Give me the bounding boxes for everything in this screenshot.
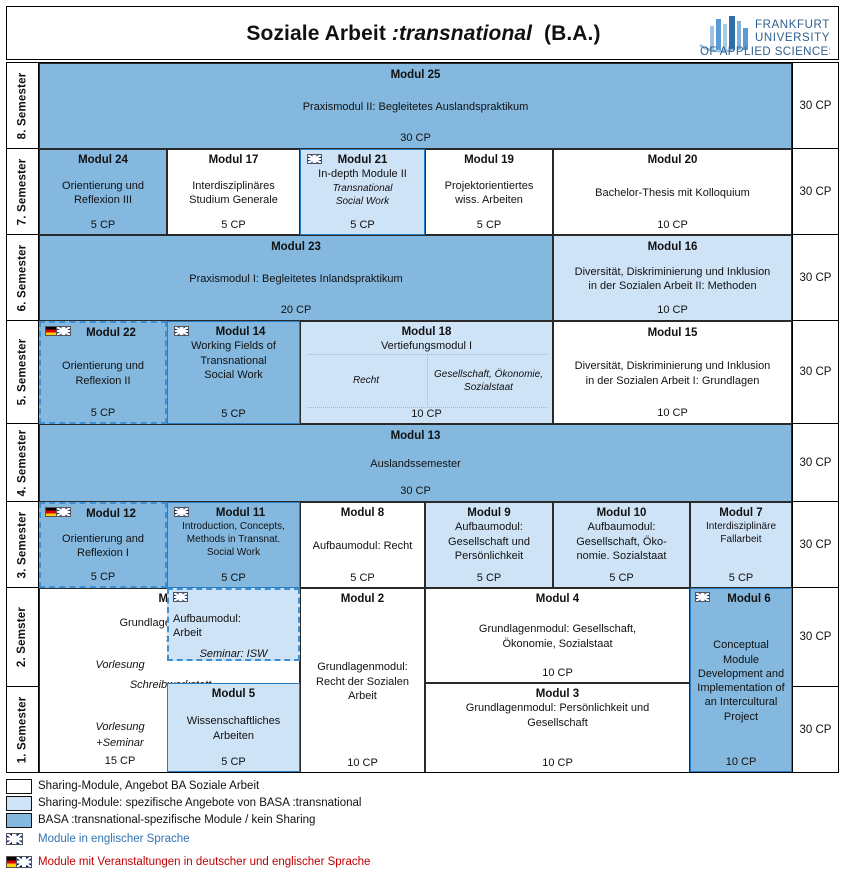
module-cell-modul-1-english-part[interactable]: Aufbaumodul: Arbeit Seminar: ISW bbox=[167, 588, 300, 661]
logo-line1: FRANKFURT bbox=[755, 19, 830, 31]
legend-label: Sharing-Module, Angebot BA Soziale Arbei… bbox=[38, 780, 259, 793]
module-cp: 20 CP bbox=[46, 304, 546, 316]
cp-total-2: 30 CP bbox=[792, 588, 838, 687]
module-description-line-2: Ökonomie, Sozialstaat bbox=[430, 637, 685, 651]
uk-flag-icon bbox=[6, 833, 23, 845]
module-cell-modul-14[interactable]: Modul 14 Working Fields of Transnational… bbox=[167, 321, 300, 424]
module-title: Modul 16 bbox=[559, 240, 786, 254]
curriculum-grid: 8. Semester 7. Semester 6. Semester 5. S… bbox=[6, 62, 839, 773]
module-description-line-1: Orientierung and bbox=[45, 532, 161, 546]
semester-label-8: 8. Semester bbox=[7, 63, 39, 149]
semester-label-5: 5. Semester bbox=[7, 321, 39, 424]
module-description-line-2: Development and bbox=[695, 667, 787, 681]
cp-total-6: 30 CP bbox=[792, 235, 838, 321]
module-title: Modul 13 bbox=[46, 429, 785, 443]
module-cp: 10 CP bbox=[559, 407, 786, 419]
module-cp: 5 CP bbox=[172, 756, 295, 768]
module-description-line-2: Transnational bbox=[172, 354, 295, 368]
module-cell-modul-12[interactable]: Modul 12 Orientierung and Reflexion I 5 … bbox=[39, 502, 167, 588]
module-description-line-1: Aufbaumodul: bbox=[558, 520, 685, 534]
module-cell-modul-9[interactable]: Modul 9 Aufbaumodul: Gesellschaft und Pe… bbox=[425, 502, 553, 588]
module-description-line-3: Social Work bbox=[305, 195, 420, 208]
module-cell-modul-15[interactable]: Modul 15 Diversität, Diskriminierung und… bbox=[553, 321, 792, 424]
module-title: Modul 20 bbox=[558, 153, 787, 167]
module-18-sub-left: Recht bbox=[307, 374, 425, 387]
legend-row-english: Module in englischer Sprache bbox=[6, 831, 190, 847]
legend-row-sharing-module: Sharing-Module, Angebot BA Soziale Arbei… bbox=[6, 778, 259, 794]
module-cell-modul-13[interactable]: Modul 13 Auslandssemester 30 CP bbox=[39, 424, 792, 502]
module-cp: 5 CP bbox=[45, 571, 161, 583]
module-cell-modul-25[interactable]: Modul 25 Praxismodul II: Begleitetes Aus… bbox=[39, 63, 792, 149]
module-cp: 10 CP bbox=[301, 408, 552, 420]
module-title: Modul 17 bbox=[172, 153, 295, 167]
cp-total-1: 30 CP bbox=[792, 687, 838, 772]
module-cell-modul-22[interactable]: Modul 22 Orientierung und Reflexion II 5… bbox=[39, 321, 167, 424]
module-description-line-1: Diversität, Diskriminierung und Inklusio… bbox=[559, 359, 786, 373]
module-cell-modul-8[interactable]: Modul 8 Aufbaumodul: Recht 5 CP bbox=[300, 502, 425, 588]
logo-line2: UNIVERSITY bbox=[755, 32, 830, 44]
module-description: Bachelor-Thesis mit Kolloquium bbox=[558, 186, 787, 200]
module-description-line-3: Implementation of bbox=[695, 681, 787, 695]
legend-row-sharing-specific: Sharing-Module: spezifische Angebote von… bbox=[6, 795, 361, 811]
module-description-line-1: Grundlagenmodul: Gesellschaft, bbox=[430, 622, 685, 636]
uk-flag-icon bbox=[174, 507, 189, 517]
frankfurt-university-logo: FRANKFURT UNIVERSITY OF APPLIED SCIENCES bbox=[698, 12, 830, 58]
logo-svg: FRANKFURT UNIVERSITY OF APPLIED SCIENCES bbox=[698, 12, 830, 58]
module-cp: 10 CP bbox=[558, 219, 787, 231]
module-description-line-3: Social Work bbox=[172, 368, 295, 382]
module-description-line-2: Gesellschaft, Öko- bbox=[558, 535, 685, 549]
module-cell-modul-17[interactable]: Modul 17 Interdisziplinäres Studium Gene… bbox=[167, 149, 300, 235]
module-description-line-2: Recht der Sozialen bbox=[305, 675, 420, 689]
module-cell-modul-6[interactable]: Modul 6 Conceptual Module Development an… bbox=[690, 588, 792, 772]
module-cp: 5 CP bbox=[172, 572, 295, 584]
module-18-sub-right-line-2: Sozialstaat bbox=[429, 381, 548, 394]
uk-flag-icon bbox=[173, 592, 188, 602]
module-description-line-5: Project bbox=[695, 710, 787, 724]
legend-row-basa-specific: BASA :transnational-spezifische Module /… bbox=[6, 812, 315, 828]
module-title: Modul 24 bbox=[44, 153, 162, 167]
module-description-line-2: Reflexion II bbox=[45, 374, 161, 388]
module-cell-modul-16[interactable]: Modul 16 Diversität, Diskriminierung und… bbox=[553, 235, 792, 321]
module-cp: 30 CP bbox=[46, 485, 785, 497]
module-title: Modul 10 bbox=[558, 506, 685, 520]
uk-flag-icon bbox=[56, 326, 71, 336]
module-description-line-2: in der Sozialen Arbeit II: Methoden bbox=[559, 279, 786, 293]
module-description-line-1: Interdisziplinäre bbox=[695, 520, 787, 533]
module-description-line-1: In-depth Module II bbox=[305, 167, 420, 181]
module-title: Modul 25 bbox=[46, 68, 785, 82]
module-description-line-1: Grundlagenmodul: Persönlichkeit und bbox=[430, 701, 685, 715]
cp-total-8: 30 CP bbox=[792, 63, 838, 149]
module-description: Praxismodul I: Begleitetes Inlandsprakti… bbox=[46, 272, 546, 286]
module-description-line-1: Orientierung und bbox=[45, 359, 161, 373]
module-cp: 5 CP bbox=[44, 219, 162, 231]
semester-label-4: 4. Semester bbox=[7, 424, 39, 502]
module-description-line-1: Introduction, Concepts, bbox=[172, 520, 295, 533]
module-1b-description-line-1: Aufbaumodul: bbox=[173, 612, 294, 626]
module-title: Modul 2 bbox=[305, 592, 420, 606]
module-1b-description-line-2: Arbeit bbox=[173, 626, 294, 640]
module-title: Modul 18 bbox=[301, 325, 552, 339]
module-description-line-2: Transnational bbox=[305, 182, 420, 195]
page-header: Soziale Arbeit :transnational (B.A.) FRA… bbox=[6, 6, 839, 60]
module-description-line-1: Wissenschaftliches bbox=[172, 714, 295, 728]
module-description-line-3: nomie. Sozialstaat bbox=[558, 549, 685, 563]
module-description-line-2: Methods in Transnat. bbox=[172, 533, 295, 546]
title-main: Soziale Arbeit bbox=[246, 22, 391, 46]
module-cp: 5 CP bbox=[305, 572, 420, 584]
module-title: Modul 4 bbox=[430, 592, 685, 606]
logo-line3: OF APPLIED SCIENCES bbox=[700, 46, 830, 58]
legend-flag-de-uk bbox=[6, 856, 32, 868]
module-cp: 10 CP bbox=[430, 667, 685, 679]
title-italic: :transnational bbox=[392, 22, 532, 46]
module-title: Modul 21 bbox=[305, 153, 420, 167]
module-cp: 5 CP bbox=[430, 219, 548, 231]
legend-flag-uk bbox=[6, 833, 32, 845]
module-description-line-3: Persönlichkeit bbox=[430, 549, 548, 563]
cp-total-4: 30 CP bbox=[792, 424, 838, 502]
legend-swatch-light-blue bbox=[6, 796, 32, 811]
legend-swatch-mid-blue bbox=[6, 813, 32, 828]
module-description-line-2: Studium Generale bbox=[172, 193, 295, 207]
module-cell-modul-2[interactable]: Modul 2 Grundlagenmodul: Recht der Sozia… bbox=[300, 588, 425, 772]
module-cell-modul-21[interactable]: Modul 21 In-depth Module II Transnationa… bbox=[300, 149, 425, 235]
module-cell-modul-19[interactable]: Modul 19 Projektorientiertes wiss. Arbei… bbox=[425, 149, 553, 235]
uk-flag-icon bbox=[56, 507, 71, 517]
uk-flag-icon bbox=[307, 154, 322, 164]
semester-label-6: 6. Semester bbox=[7, 235, 39, 321]
module-1b-form-seminar: Seminar: ISW bbox=[173, 647, 294, 661]
module-cell-modul-24[interactable]: Modul 24 Orientierung und Reflexion III … bbox=[39, 149, 167, 235]
module-description-line-1: Orientierung und bbox=[44, 179, 162, 193]
module-cp: 10 CP bbox=[695, 756, 787, 768]
module-description-line-2: wiss. Arbeiten bbox=[430, 193, 548, 207]
module-description: Auslandssemester bbox=[46, 457, 785, 471]
module-title: Modul 23 bbox=[46, 240, 546, 254]
module-description: Aufbaumodul: Recht bbox=[305, 539, 420, 553]
module-cell-modul-3[interactable]: Modul 3 Grundlagenmodul: Persönlichkeit … bbox=[425, 683, 690, 772]
module-cp: 5 CP bbox=[430, 572, 548, 584]
module-description: Vertiefungsmodul I bbox=[301, 339, 552, 353]
semester-label-7: 7. Semester bbox=[7, 149, 39, 235]
module-description-line-1: Aufbaumodul: bbox=[430, 520, 548, 534]
module-cell-modul-11[interactable]: Modul 11 Introduction, Concepts, Methods… bbox=[167, 502, 300, 588]
title-tail: (B.A.) bbox=[532, 22, 600, 46]
module-cp: 5 CP bbox=[558, 572, 685, 584]
module-title: Modul 3 bbox=[430, 687, 685, 701]
module-18-sub-right-line-1: Gesellschaft, Ökonomie, bbox=[429, 368, 548, 381]
module-cp: 10 CP bbox=[430, 757, 685, 769]
module-description-line-2: Reflexion III bbox=[44, 193, 162, 207]
legend-swatch-white bbox=[6, 779, 32, 794]
module-cp: 5 CP bbox=[305, 219, 420, 231]
cp-total-7: 30 CP bbox=[792, 149, 838, 235]
module-cp: 5 CP bbox=[172, 408, 295, 420]
module-description-line-1: Diversität, Diskriminierung und Inklusio… bbox=[559, 265, 786, 279]
semester-label-2: 2. Semster bbox=[7, 588, 39, 687]
module-description-line-2: Gesellschaft bbox=[430, 716, 685, 730]
module-description-line-1: Grundlagenmodul: bbox=[305, 660, 420, 674]
module-cp: 5 CP bbox=[45, 407, 161, 419]
legend-label: Module in englischer Sprache bbox=[38, 833, 190, 846]
module-description-line-2: in der Sozialen Arbeit I: Grundlagen bbox=[559, 374, 786, 388]
module-description-line-1: Working Fields of bbox=[172, 339, 295, 353]
module-cp: 30 CP bbox=[46, 132, 785, 144]
module-cell-modul-7[interactable]: Modul 7 Interdisziplinäre Fallarbeit 5 C… bbox=[690, 502, 792, 588]
module-cell-modul-20[interactable]: Modul 20 Bachelor-Thesis mit Kolloquium … bbox=[553, 149, 792, 235]
module-title: Modul 8 bbox=[305, 506, 420, 520]
module-title: Modul 15 bbox=[559, 326, 786, 340]
module-description-line-1: Conceptual Module bbox=[695, 638, 787, 667]
module-description-line-3: Arbeit bbox=[305, 689, 420, 703]
module-title: Modul 9 bbox=[430, 506, 548, 520]
cp-total-3: 30 CP bbox=[792, 502, 838, 588]
module-description-line-1: Interdisziplinäres bbox=[172, 179, 295, 193]
module-description-line-2: Gesellschaft und bbox=[430, 535, 548, 549]
legend-label: BASA :transnational-spezifische Module /… bbox=[38, 814, 315, 827]
legend-row-german-english: Module mit Veranstaltungen in deutscher … bbox=[6, 854, 370, 870]
module-cp: 5 CP bbox=[695, 572, 787, 584]
module-description-line-2: Arbeiten bbox=[172, 729, 295, 743]
module-cell-modul-18[interactable]: Modul 18 Vertiefungsmodul I Recht Gesell… bbox=[300, 321, 553, 424]
semester-label-1: 1. Semester bbox=[7, 687, 39, 772]
module-title: Modul 5 bbox=[172, 687, 295, 701]
module-description-line-2: Fallarbeit bbox=[695, 533, 787, 546]
module-description-line-4: an Intercultural bbox=[695, 695, 787, 709]
uk-flag-icon bbox=[16, 856, 33, 868]
cp-total-5: 30 CP bbox=[792, 321, 838, 424]
module-cell-modul-10[interactable]: Modul 10 Aufbaumodul: Gesellschaft, Öko-… bbox=[553, 502, 690, 588]
legend-label: Sharing-Module: spezifische Angebote von… bbox=[38, 797, 361, 810]
semester-label-3: 3. Semester bbox=[7, 502, 39, 588]
legend-label: Module mit Veranstaltungen in deutscher … bbox=[38, 856, 370, 869]
module-cell-modul-5[interactable]: Modul 5 Wissenschaftliches Arbeiten 5 CP bbox=[167, 683, 300, 772]
uk-flag-icon bbox=[695, 592, 710, 602]
module-cell-modul-23[interactable]: Modul 23 Praxismodul I: Begleitetes Inla… bbox=[39, 235, 553, 321]
uk-flag-icon bbox=[174, 326, 189, 336]
module-description-line-1: Projektorientiertes bbox=[430, 179, 548, 193]
module-cp: 5 CP bbox=[172, 219, 295, 231]
module-description: Praxismodul II: Begleitetes Auslandsprak… bbox=[46, 100, 785, 114]
module-cell-modul-4[interactable]: Modul 4 Grundlagenmodul: Gesellschaft, Ö… bbox=[425, 588, 690, 683]
module-title: Modul 19 bbox=[430, 153, 548, 167]
module-title: Modul 7 bbox=[695, 506, 787, 520]
module-cp: 10 CP bbox=[559, 304, 786, 316]
module-cp: 10 CP bbox=[305, 757, 420, 769]
legend: Sharing-Module, Angebot BA Soziale Arbei… bbox=[6, 778, 839, 883]
module-description-line-2: Reflexion I bbox=[45, 546, 161, 560]
module-description-line-3: Social Work bbox=[172, 546, 295, 559]
